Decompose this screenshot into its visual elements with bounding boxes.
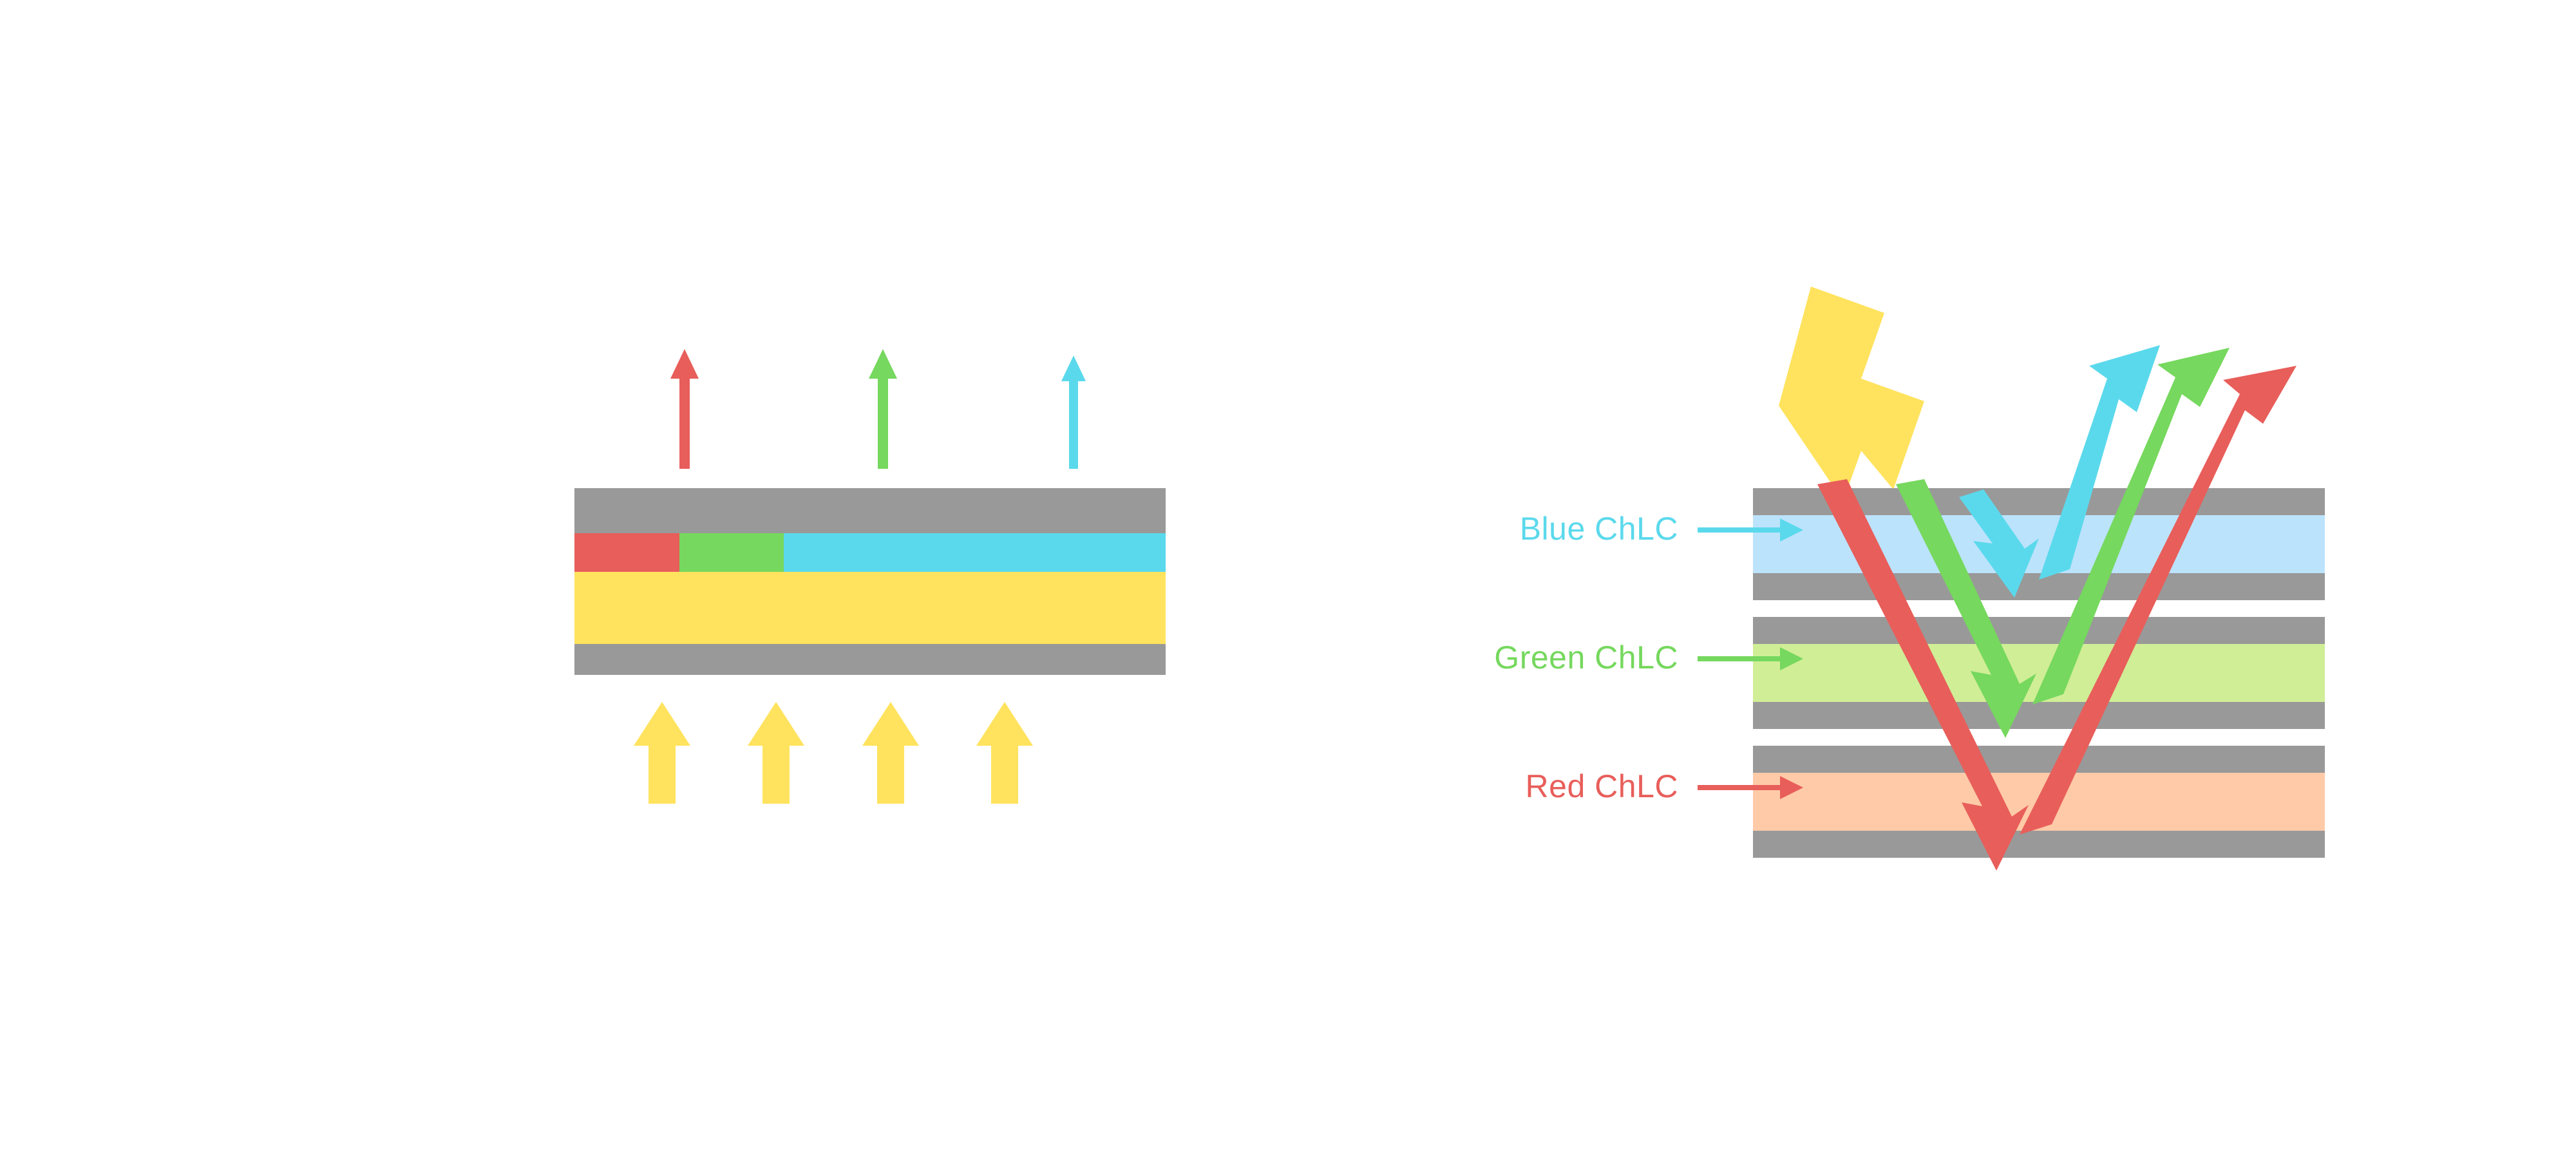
- red-chlc-label: Red ChLC: [1526, 768, 1678, 804]
- green-cell-top-electrode: [1753, 617, 2325, 644]
- diagram-canvas: Blue ChLC Green ChLC Red ChLC: [0, 0, 2576, 1154]
- blue-chlc-label: Blue ChLC: [1520, 511, 1678, 547]
- green-cell-bottom-electrode: [1753, 702, 2325, 729]
- red-cell-top-electrode: [1753, 746, 2325, 773]
- red-cell-bottom-electrode: [1753, 831, 2325, 858]
- blue-cell-bottom-electrode: [1753, 573, 2325, 600]
- incident-white-light-arrow: [1779, 287, 1924, 501]
- right-panel-group: Blue ChLC Green ChLC Red ChLC: [0, 0, 2576, 1154]
- green-chlc-label: Green ChLC: [1494, 639, 1678, 676]
